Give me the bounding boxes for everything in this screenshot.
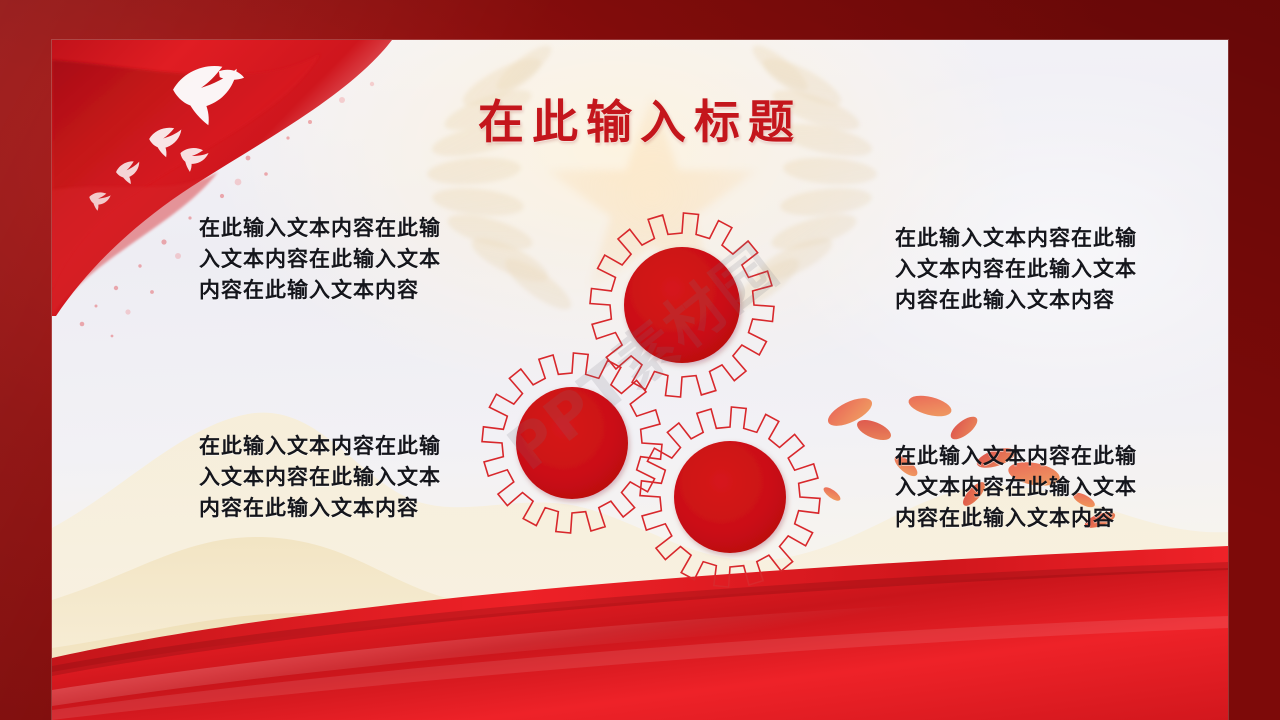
presentation-frame: 在此输入标题 PPT素材园 在此输入文本内容在此输入文本内容在此输入文本内容在此… (0, 0, 1280, 720)
slide-canvas: 在此输入标题 PPT素材园 在此输入文本内容在此输入文本内容在此输入文本内容在此… (52, 40, 1228, 720)
gear-top-hub (624, 247, 740, 363)
gear-top (590, 213, 774, 397)
text-block-bottom-left[interactable]: 在此输入文本内容在此输入文本内容在此输入文本内容在此输入文本内容 (199, 430, 455, 523)
gear-bottom-right (640, 407, 820, 587)
gears-graphic (472, 205, 852, 605)
text-block-bottom-right[interactable]: 在此输入文本内容在此输入文本内容在此输入文本内容在此输入文本内容 (895, 440, 1151, 533)
gear-left (482, 353, 662, 533)
text-block-top-left[interactable]: 在此输入文本内容在此输入文本内容在此输入文本内容在此输入文本内容 (199, 212, 455, 305)
text-block-top-right[interactable]: 在此输入文本内容在此输入文本内容在此输入文本内容在此输入文本内容 (895, 222, 1151, 315)
gear-left-hub (516, 387, 628, 499)
gear-bottom-right-hub (674, 441, 786, 553)
page-title: 在此输入标题 (52, 86, 1228, 152)
